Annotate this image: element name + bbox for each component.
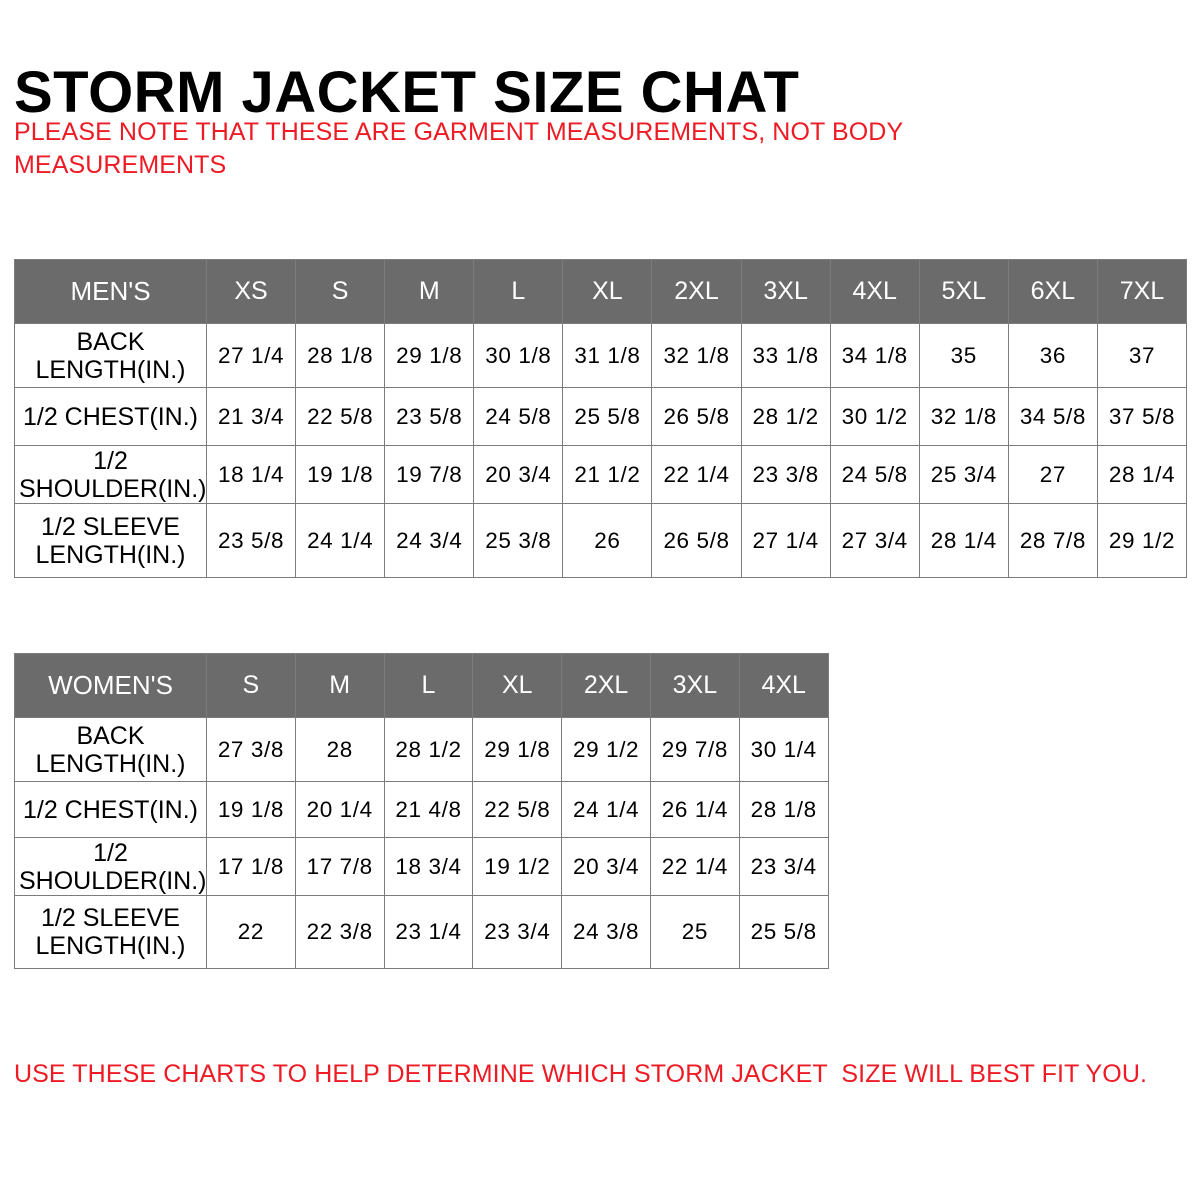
mens-cell-chest-s: 22 5/8 — [296, 388, 385, 446]
mens-column-header-s: S — [296, 260, 385, 324]
womens-column-header-l: L — [384, 654, 473, 718]
table-row: 1/2 CHEST(IN.) 21 3/4 22 5/8 23 5/8 24 5… — [15, 388, 1187, 446]
womens-column-header-2xl: 2XL — [562, 654, 651, 718]
mens-cell-sleeve-4xl: 27 3/4 — [830, 504, 919, 578]
mens-cell-back-length-xs: 27 1/4 — [207, 324, 296, 388]
mens-row-label-sleeve-length: 1/2 SLEEVELENGTH(IN.) — [15, 504, 207, 578]
womens-row-label-shoulder: 1/2 SHOULDER(IN.) — [15, 838, 207, 896]
mens-column-header-5xl: 5XL — [919, 260, 1008, 324]
mens-column-header-l: L — [474, 260, 563, 324]
womens-cell-chest-3xl: 26 1/4 — [650, 782, 739, 838]
mens-cell-shoulder-m: 19 7/8 — [385, 446, 474, 504]
womens-cell-back-length-xl: 29 1/8 — [473, 718, 562, 782]
mens-row-label-shoulder: 1/2 SHOULDER(IN.) — [15, 446, 207, 504]
page-title: STORM JACKET SIZE CHAT — [14, 63, 799, 124]
womens-cell-shoulder-m: 17 7/8 — [295, 838, 384, 896]
womens-cell-sleeve-4xl: 25 5/8 — [739, 896, 828, 969]
womens-row-label-chest: 1/2 CHEST(IN.) — [15, 782, 207, 838]
table-row: 1/2 SLEEVELENGTH(IN.) 22 22 3/8 23 1/4 2… — [15, 896, 829, 969]
mens-cell-shoulder-3xl: 23 3/8 — [741, 446, 830, 504]
womens-cell-shoulder-2xl: 20 3/4 — [562, 838, 651, 896]
mens-cell-sleeve-s: 24 1/4 — [296, 504, 385, 578]
mens-column-header-2xl: 2XL — [652, 260, 741, 324]
womens-cell-back-length-3xl: 29 7/8 — [650, 718, 739, 782]
mens-cell-chest-2xl: 26 5/8 — [652, 388, 741, 446]
mens-column-header-3xl: 3XL — [741, 260, 830, 324]
mens-cell-chest-7xl: 37 5/8 — [1097, 388, 1186, 446]
mens-cell-shoulder-4xl: 24 5/8 — [830, 446, 919, 504]
size-chart-page: STORM JACKET SIZE CHAT PLEASE NOTE THAT … — [0, 0, 1200, 1200]
womens-header-row: WOMEN'S S M L XL 2XL 3XL 4XL — [15, 654, 829, 718]
mens-cell-chest-3xl: 28 1/2 — [741, 388, 830, 446]
womens-table-body: BACKLENGTH(IN.) 27 3/8 28 28 1/2 29 1/8 … — [15, 718, 829, 969]
womens-cell-sleeve-l: 23 1/4 — [384, 896, 473, 969]
mens-cell-sleeve-5xl: 28 1/4 — [919, 504, 1008, 578]
mens-cell-sleeve-m: 24 3/4 — [385, 504, 474, 578]
womens-corner-label: WOMEN'S — [15, 654, 207, 718]
mens-cell-shoulder-7xl: 28 1/4 — [1097, 446, 1186, 504]
mens-table-body: BACKLENGTH(IN.) 27 1/4 28 1/8 29 1/8 30 … — [15, 324, 1187, 578]
womens-column-header-xl: XL — [473, 654, 562, 718]
mens-cell-shoulder-6xl: 27 — [1008, 446, 1097, 504]
mens-cell-sleeve-xs: 23 5/8 — [207, 504, 296, 578]
womens-cell-chest-m: 20 1/4 — [295, 782, 384, 838]
mens-cell-shoulder-5xl: 25 3/4 — [919, 446, 1008, 504]
womens-column-header-m: M — [295, 654, 384, 718]
mens-cell-sleeve-2xl: 26 5/8 — [652, 504, 741, 578]
mens-row-label-chest: 1/2 CHEST(IN.) — [15, 388, 207, 446]
womens-column-header-3xl: 3XL — [650, 654, 739, 718]
mens-cell-back-length-7xl: 37 — [1097, 324, 1186, 388]
mens-column-header-6xl: 6XL — [1008, 260, 1097, 324]
mens-cell-chest-6xl: 34 5/8 — [1008, 388, 1097, 446]
womens-table-header: WOMEN'S S M L XL 2XL 3XL 4XL — [15, 654, 829, 718]
mens-cell-back-length-4xl: 34 1/8 — [830, 324, 919, 388]
womens-cell-chest-2xl: 24 1/4 — [562, 782, 651, 838]
mens-cell-back-length-l: 30 1/8 — [474, 324, 563, 388]
womens-cell-chest-l: 21 4/8 — [384, 782, 473, 838]
womens-cell-back-length-l: 28 1/2 — [384, 718, 473, 782]
table-row: BACKLENGTH(IN.) 27 3/8 28 28 1/2 29 1/8 … — [15, 718, 829, 782]
womens-cell-chest-xl: 22 5/8 — [473, 782, 562, 838]
mens-column-header-4xl: 4XL — [830, 260, 919, 324]
mens-cell-sleeve-3xl: 27 1/4 — [741, 504, 830, 578]
table-row: 1/2 SHOULDER(IN.) 18 1/4 19 1/8 19 7/8 2… — [15, 446, 1187, 504]
womens-row-label-back-length: BACKLENGTH(IN.) — [15, 718, 207, 782]
mens-cell-sleeve-6xl: 28 7/8 — [1008, 504, 1097, 578]
garment-measurement-note: PLEASE NOTE THAT THESE ARE GARMENT MEASU… — [14, 116, 1014, 182]
mens-row-label-back-length: BACKLENGTH(IN.) — [15, 324, 207, 388]
womens-cell-back-length-s: 27 3/8 — [207, 718, 296, 782]
mens-cell-chest-4xl: 30 1/2 — [830, 388, 919, 446]
mens-cell-chest-m: 23 5/8 — [385, 388, 474, 446]
mens-column-header-7xl: 7XL — [1097, 260, 1186, 324]
mens-cell-chest-xl: 25 5/8 — [563, 388, 652, 446]
womens-cell-back-length-2xl: 29 1/2 — [562, 718, 651, 782]
mens-column-header-m: M — [385, 260, 474, 324]
table-row: 1/2 CHEST(IN.) 19 1/8 20 1/4 21 4/8 22 5… — [15, 782, 829, 838]
mens-cell-back-length-2xl: 32 1/8 — [652, 324, 741, 388]
table-row: 1/2 SLEEVELENGTH(IN.) 23 5/8 24 1/4 24 3… — [15, 504, 1187, 578]
mens-cell-shoulder-xl: 21 1/2 — [563, 446, 652, 504]
womens-cell-sleeve-m: 22 3/8 — [295, 896, 384, 969]
mens-column-header-xs: XS — [207, 260, 296, 324]
mens-cell-back-length-s: 28 1/8 — [296, 324, 385, 388]
mens-cell-sleeve-l: 25 3/8 — [474, 504, 563, 578]
womens-cell-back-length-4xl: 30 1/4 — [739, 718, 828, 782]
mens-size-table: MEN'S XS S M L XL 2XL 3XL 4XL 5XL 6XL 7X… — [14, 259, 1187, 578]
mens-cell-sleeve-xl: 26 — [563, 504, 652, 578]
mens-cell-chest-xs: 21 3/4 — [207, 388, 296, 446]
mens-cell-chest-l: 24 5/8 — [474, 388, 563, 446]
womens-cell-shoulder-3xl: 22 1/4 — [650, 838, 739, 896]
womens-size-table: WOMEN'S S M L XL 2XL 3XL 4XL BACKLENGTH(… — [14, 653, 829, 969]
mens-cell-back-length-xl: 31 1/8 — [563, 324, 652, 388]
womens-cell-sleeve-2xl: 24 3/8 — [562, 896, 651, 969]
mens-table-header: MEN'S XS S M L XL 2XL 3XL 4XL 5XL 6XL 7X… — [15, 260, 1187, 324]
mens-corner-label: MEN'S — [15, 260, 207, 324]
mens-column-header-xl: XL — [563, 260, 652, 324]
womens-cell-shoulder-l: 18 3/4 — [384, 838, 473, 896]
womens-cell-chest-s: 19 1/8 — [207, 782, 296, 838]
mens-cell-back-length-3xl: 33 1/8 — [741, 324, 830, 388]
footer-help-note: USE THESE CHARTS TO HELP DETERMINE WHICH… — [14, 1058, 1174, 1091]
womens-cell-chest-4xl: 28 1/8 — [739, 782, 828, 838]
womens-cell-shoulder-xl: 19 1/2 — [473, 838, 562, 896]
womens-column-header-4xl: 4XL — [739, 654, 828, 718]
mens-cell-shoulder-s: 19 1/8 — [296, 446, 385, 504]
womens-cell-shoulder-4xl: 23 3/4 — [739, 838, 828, 896]
mens-cell-shoulder-l: 20 3/4 — [474, 446, 563, 504]
mens-cell-shoulder-2xl: 22 1/4 — [652, 446, 741, 504]
womens-cell-shoulder-s: 17 1/8 — [207, 838, 296, 896]
womens-cell-sleeve-s: 22 — [207, 896, 296, 969]
mens-cell-back-length-6xl: 36 — [1008, 324, 1097, 388]
mens-cell-chest-5xl: 32 1/8 — [919, 388, 1008, 446]
mens-header-row: MEN'S XS S M L XL 2XL 3XL 4XL 5XL 6XL 7X… — [15, 260, 1187, 324]
mens-cell-back-length-m: 29 1/8 — [385, 324, 474, 388]
mens-cell-sleeve-7xl: 29 1/2 — [1097, 504, 1186, 578]
womens-cell-back-length-m: 28 — [295, 718, 384, 782]
mens-cell-back-length-5xl: 35 — [919, 324, 1008, 388]
womens-row-label-sleeve-length: 1/2 SLEEVELENGTH(IN.) — [15, 896, 207, 969]
womens-cell-sleeve-3xl: 25 — [650, 896, 739, 969]
mens-cell-shoulder-xs: 18 1/4 — [207, 446, 296, 504]
table-row: 1/2 SHOULDER(IN.) 17 1/8 17 7/8 18 3/4 1… — [15, 838, 829, 896]
womens-cell-sleeve-xl: 23 3/4 — [473, 896, 562, 969]
table-row: BACKLENGTH(IN.) 27 1/4 28 1/8 29 1/8 30 … — [15, 324, 1187, 388]
womens-column-header-s: S — [207, 654, 296, 718]
